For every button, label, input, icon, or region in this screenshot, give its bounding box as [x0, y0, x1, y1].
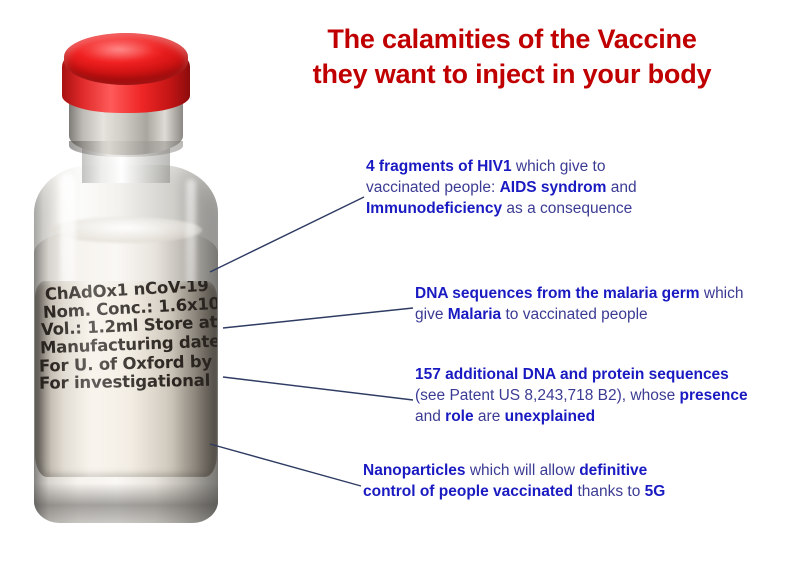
- annotation-malaria-dna: DNA sequences from the malaria germ whic…: [415, 283, 744, 325]
- annotation-text: and: [606, 179, 636, 196]
- annotation-line: (see Patent US 8,243,718 B2), whose pres…: [415, 385, 748, 406]
- annotation-line: and role are unexplained: [415, 406, 748, 427]
- annotation-text: which: [700, 285, 744, 302]
- annotation-text: which will allow: [466, 462, 580, 479]
- leader-line-hiv: [210, 197, 364, 272]
- vial-base-shadow: [34, 483, 218, 523]
- annotation-line: Nanoparticles which will allow definitiv…: [363, 460, 665, 481]
- annotation-text: and: [415, 408, 445, 425]
- annotation-emphasis: Malaria: [448, 306, 501, 323]
- annotation-text: thanks to: [573, 483, 645, 500]
- annotation-text: to vaccinated people: [501, 306, 648, 323]
- annotation-line: control of people vaccinated thanks to 5…: [363, 481, 665, 502]
- annotation-text: are: [474, 408, 505, 425]
- annotation-emphasis: presence: [680, 387, 748, 404]
- poster-title: The calamities of the Vaccine they want …: [232, 22, 792, 92]
- annotation-text: vaccinated people:: [366, 179, 500, 196]
- vial-label-text: ChAdOx1 nCoV-19Nom. Conc.: 1.6x10Vol.: 1…: [35, 287, 217, 393]
- annotation-emphasis: control of people vaccinated: [363, 483, 573, 500]
- annotation-emphasis: 5G: [645, 483, 666, 500]
- annotation-emphasis: 4 fragments of HIV1: [366, 158, 512, 175]
- vial-red-cap: [64, 33, 188, 85]
- annotation-emphasis: AIDS syndrom: [500, 179, 607, 196]
- annotation-line: Immunodeficiency as a consequence: [366, 198, 637, 219]
- annotation-additional-sequences: 157 additional DNA and protein sequences…: [415, 364, 748, 427]
- annotation-line: DNA sequences from the malaria germ whic…: [415, 283, 744, 304]
- annotation-emphasis: role: [445, 408, 473, 425]
- vaccine-vial-image: ChAdOx1 nCoV-19Nom. Conc.: 1.6x10Vol.: 1…: [28, 33, 224, 533]
- annotation-hiv-fragments: 4 fragments of HIV1 which give tovaccina…: [366, 156, 637, 219]
- poster-canvas: The calamities of the Vaccine they want …: [0, 0, 799, 565]
- annotation-emphasis: 157 additional DNA and protein sequences: [415, 366, 729, 383]
- annotation-line: 4 fragments of HIV1 which give to: [366, 156, 637, 177]
- vial-label: ChAdOx1 nCoV-19Nom. Conc.: 1.6x10Vol.: 1…: [35, 281, 217, 477]
- title-line-2: they want to inject in your body: [232, 57, 792, 92]
- annotation-line: 157 additional DNA and protein sequences: [415, 364, 748, 385]
- annotation-emphasis: DNA sequences from the malaria germ: [415, 285, 700, 302]
- annotation-emphasis: unexplained: [505, 408, 595, 425]
- vial-label-line: For investigational: [35, 371, 217, 392]
- annotation-line: give Malaria to vaccinated people: [415, 304, 744, 325]
- annotation-emphasis: Nanoparticles: [363, 462, 466, 479]
- annotation-emphasis: Immunodeficiency: [366, 200, 502, 217]
- annotation-text: (see Patent US 8,243,718 B2), whose: [415, 387, 680, 404]
- leader-line-malaria: [223, 308, 413, 328]
- leader-line-sequences: [223, 377, 413, 400]
- leader-line-nanoparticles: [210, 444, 361, 486]
- annotation-text: which give to: [512, 158, 606, 175]
- annotation-text: give: [415, 306, 448, 323]
- annotation-text: as a consequence: [502, 200, 632, 217]
- title-line-1: The calamities of the Vaccine: [232, 22, 792, 57]
- annotation-nanoparticles-5g: Nanoparticles which will allow definitiv…: [363, 460, 665, 502]
- annotation-emphasis: definitive: [579, 462, 647, 479]
- annotation-line: vaccinated people: AIDS syndrom and: [366, 177, 637, 198]
